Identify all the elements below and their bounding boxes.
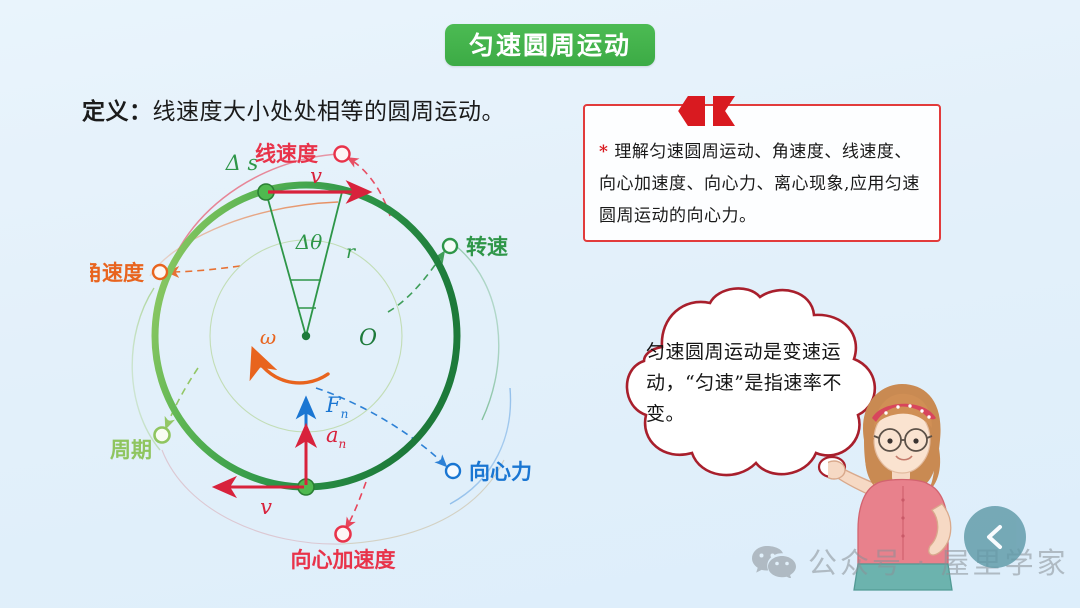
label-accel-an: an	[326, 423, 346, 451]
omega-rotation-arrow	[254, 352, 328, 383]
wechat-icon	[752, 544, 796, 578]
cloud-text: 匀速圆周运动是变速运动，“匀速”是指速率不变。	[646, 337, 846, 430]
exam-requirement-text: *理解匀速圆周运动、角速度、线速度、向心加速度、向心力、离心现象,应用匀速圆周运…	[599, 136, 927, 232]
label-velocity-top: v	[310, 164, 322, 188]
label-velocity-bottom: v	[260, 495, 272, 519]
node-marker-period[interactable]	[155, 428, 170, 443]
node-marker-linear-velocity[interactable]	[335, 147, 350, 162]
label-omega: ω	[260, 325, 276, 349]
node-marker-centripetal-force[interactable]	[446, 464, 460, 478]
label-radius-r: r	[346, 241, 357, 263]
circle-center-dot	[302, 332, 310, 340]
watermark-text: 公众号 · 屋里学家	[808, 540, 1069, 582]
circular-motion-diagram: Δθ r O ω Δ s v v Fn an 线速度 角速度 转速 向心力 周期…	[90, 120, 590, 570]
node-marker-rotational-speed[interactable]	[443, 239, 457, 253]
prev-slide-button[interactable]	[964, 506, 1026, 568]
node-marker-centripetal-acceleration[interactable]	[336, 527, 351, 542]
exam-requirement-box: 考纲要求 *理解匀速圆周运动、角速度、线速度、向心加速度、向心力、离心现象,应用…	[583, 104, 941, 242]
exam-requirement-banner: 考纲要求	[583, 96, 705, 126]
node-label-linear-velocity: 线速度	[255, 142, 318, 166]
label-force-fn: Fn	[325, 393, 348, 421]
exam-requirement-body: 理解匀速圆周运动、角速度、线速度、向心加速度、向心力、离心现象,应用匀速圆周运动…	[599, 142, 920, 226]
radius-and-angle	[266, 192, 342, 336]
node-label-rotational-speed: 转速	[466, 235, 508, 259]
node-marker-angular-velocity[interactable]	[153, 265, 167, 279]
label-center-o: O	[359, 326, 377, 351]
banner-notch-shape	[713, 96, 735, 126]
label-delta-theta: Δθ	[295, 230, 322, 254]
exam-requirement-banner-label: 考纲要求	[599, 99, 671, 124]
node-label-centripetal-acceleration: 向心加速度	[291, 548, 396, 570]
page-title-badge: 匀速圆周运动	[445, 24, 655, 66]
node-label-centripetal-force: 向心力	[469, 460, 532, 484]
chevron-left-icon	[980, 522, 1010, 552]
label-delta-s: Δ s	[225, 151, 259, 175]
node-label-period: 周期	[110, 438, 152, 462]
node-label-angular-velocity: 角速度	[90, 261, 144, 285]
page-title: 匀速圆周运动	[469, 33, 631, 58]
bullet-star-icon: *	[599, 142, 608, 162]
open-hand	[828, 461, 845, 479]
